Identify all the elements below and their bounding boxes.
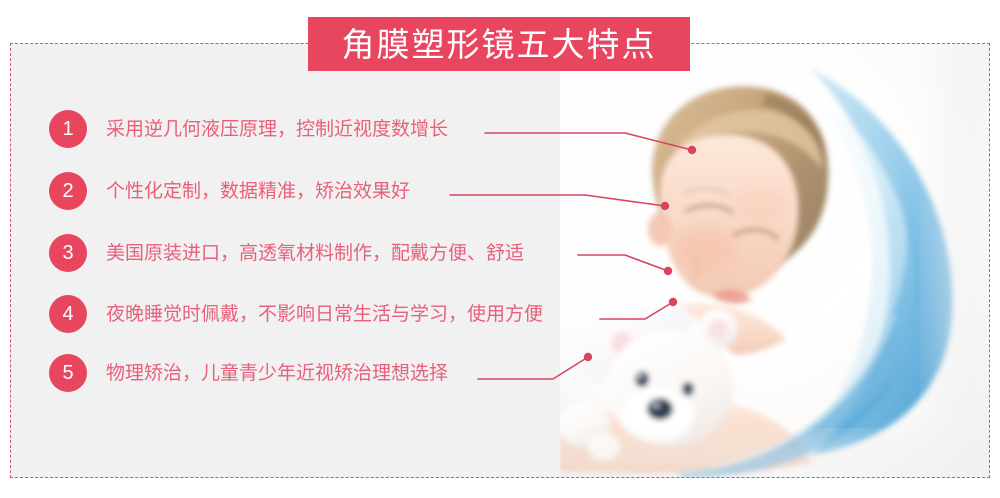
feature-item-3[interactable]: 3 美国原装进口，高透氧材料制作，配戴方便、舒适 <box>49 233 524 273</box>
feature-item-4[interactable]: 4 夜晚睡觉时佩戴，不影响日常生活与学习，使用方便 <box>49 294 543 334</box>
page-title: 角膜塑形镜五大特点 <box>342 28 657 61</box>
feature-item-1[interactable]: 1 采用逆几何液压原理，控制近视度数增长 <box>49 109 448 149</box>
feature-text-1: 采用逆几何液压原理，控制近视度数增长 <box>106 120 448 139</box>
feature-text-2: 个性化定制，数据精准，矫治效果好 <box>106 182 410 201</box>
feature-number-badge-2: 2 <box>49 172 87 210</box>
feature-item-2[interactable]: 2 个性化定制，数据精准，矫治效果好 <box>49 171 410 211</box>
feature-number-badge-1: 1 <box>49 110 87 148</box>
feature-text-4: 夜晚睡觉时佩戴，不影响日常生活与学习，使用方便 <box>106 305 543 324</box>
feature-text-5: 物理矫治，儿童青少年近视矫治理想选择 <box>106 364 448 383</box>
feature-number-badge-3: 3 <box>49 234 87 272</box>
feature-text-3: 美国原装进口，高透氧材料制作，配戴方便、舒适 <box>106 244 524 263</box>
content-panel: 1 采用逆几何液压原理，控制近视度数增长 2 个性化定制，数据精准，矫治效果好 … <box>10 43 990 478</box>
poster-canvas: 1 采用逆几何液压原理，控制近视度数增长 2 个性化定制，数据精准，矫治效果好 … <box>0 0 1000 498</box>
feature-number-badge-4: 4 <box>49 295 87 333</box>
feature-item-5[interactable]: 5 物理矫治，儿童青少年近视矫治理想选择 <box>49 353 448 393</box>
feature-number-badge-5: 5 <box>49 354 87 392</box>
title-banner: 角膜塑形镜五大特点 <box>308 17 690 71</box>
feature-list: 1 采用逆几何液压原理，控制近视度数增长 2 个性化定制，数据精准，矫治效果好 … <box>10 43 990 478</box>
